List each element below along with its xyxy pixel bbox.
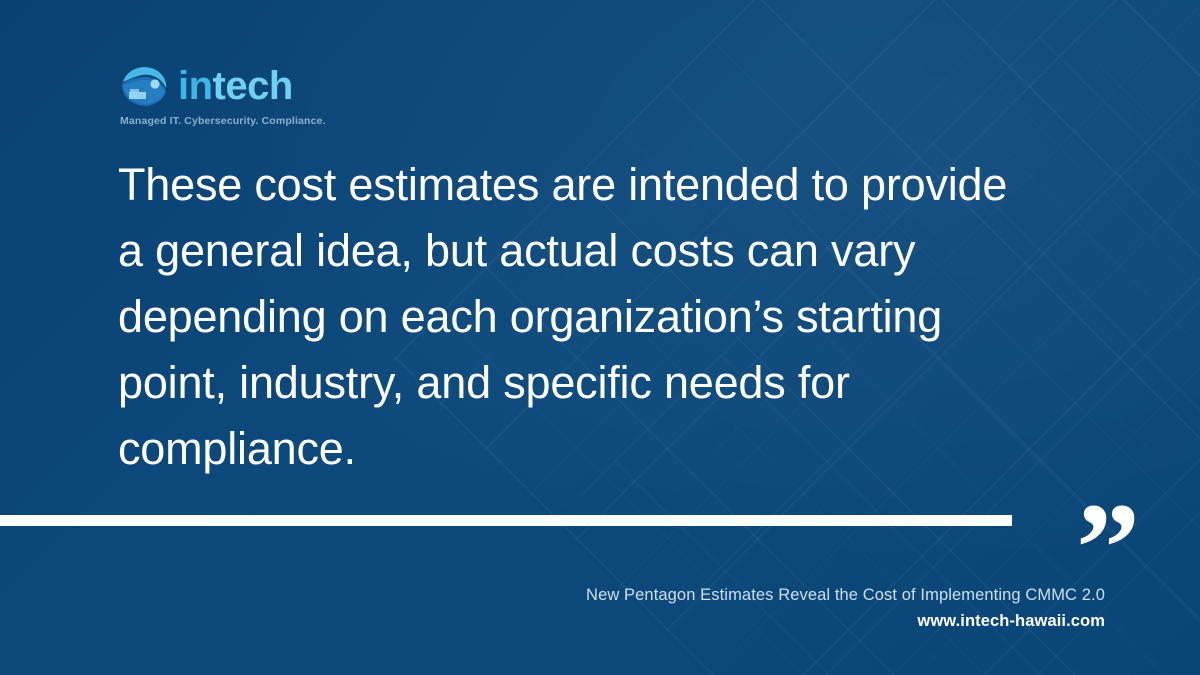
logo-row: intech <box>118 62 293 110</box>
intech-wave-circle-icon <box>118 62 172 110</box>
quote-card: intech Managed IT. Cybersecurity. Compli… <box>0 0 1200 675</box>
logo-wordmark: intech <box>178 66 293 106</box>
footer-article-title: New Pentagon Estimates Reveal the Cost o… <box>586 583 1105 607</box>
logo-wordmark-second: tech <box>213 64 293 108</box>
logo-wordmark-first: in <box>178 64 213 108</box>
horizontal-divider <box>0 515 1012 526</box>
quote-text: These cost estimates are intended to pro… <box>118 152 1018 482</box>
brand-logo[interactable]: intech Managed IT. Cybersecurity. Compli… <box>118 62 326 127</box>
footer: New Pentagon Estimates Reveal the Cost o… <box>586 583 1105 634</box>
footer-website-url[interactable]: www.intech-hawaii.com <box>586 609 1105 634</box>
logo-tagline: Managed IT. Cybersecurity. Compliance. <box>120 115 326 127</box>
